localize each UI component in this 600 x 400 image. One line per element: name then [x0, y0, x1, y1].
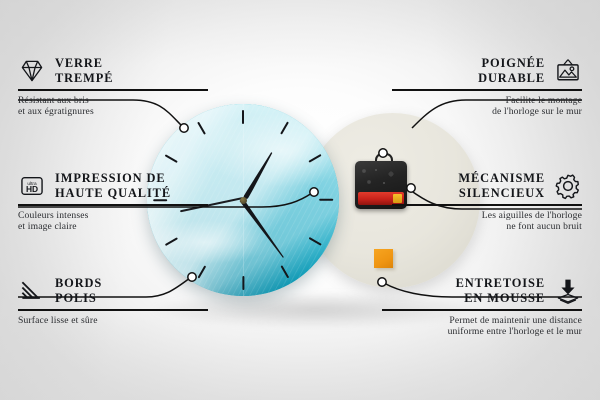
feature-rule	[392, 204, 582, 206]
feature-verre-trempe[interactable]: VERRE TREMPÉ Résistant aux bris et aux é…	[18, 56, 208, 118]
ultra-hd-icon: ultra HD	[18, 172, 46, 200]
gear-icon	[554, 172, 582, 200]
feature-bords-polis[interactable]: BORDS POLIS Surface lisse et sûre	[18, 276, 208, 326]
minute-hand	[239, 198, 285, 259]
feature-title: VERRE TREMPÉ	[55, 56, 113, 85]
product-infographic: VERRE TREMPÉ Résistant aux bris et aux é…	[0, 0, 600, 400]
foam-spacer-icon	[554, 277, 582, 305]
feature-desc-line1: Couleurs intenses	[18, 210, 208, 222]
foam-spacer	[374, 249, 393, 268]
feature-header: BORDS POLIS	[18, 276, 208, 305]
feature-desc-line1: Résistant aux bris	[18, 95, 208, 107]
feature-entretoise-en-mousse[interactable]: ENTRETOISE EN MOUSSE Permet de maintenir…	[382, 276, 582, 338]
feature-header: ultra HD IMPRESSION DE HAUTE QUALITÉ	[18, 171, 208, 200]
hour-hand	[243, 151, 274, 200]
feature-impression-haute-qualite[interactable]: ultra HD IMPRESSION DE HAUTE QUALITÉ Cou…	[18, 171, 208, 233]
feature-desc-line2: et aux égratignures	[18, 106, 208, 118]
feature-title: POIGNÉE DURABLE	[478, 56, 545, 85]
feature-mecanisme-silencieux[interactable]: MÉCANISME SILENCIEUX Les aiguilles de l'…	[392, 171, 582, 233]
feature-title: BORDS POLIS	[55, 276, 102, 305]
feature-rule	[18, 89, 208, 91]
diamond-icon	[18, 57, 46, 85]
feature-desc-line2: ne font aucun bruit	[392, 221, 582, 233]
feature-title: IMPRESSION DE HAUTE QUALITÉ	[55, 171, 171, 200]
feature-header: VERRE TREMPÉ	[18, 56, 208, 85]
feature-desc-line2: uniforme entre l'horloge et le mur	[382, 326, 582, 338]
feature-desc-line1: Facilite le montage	[392, 95, 582, 107]
feature-rule	[392, 89, 582, 91]
feature-desc-line1: Les aiguilles de l'horloge	[392, 210, 582, 222]
hands-cap	[240, 197, 247, 204]
feature-desc-line2: de l'horloge sur le mur	[392, 106, 582, 118]
feature-title: MÉCANISME SILENCIEUX	[458, 171, 545, 200]
polished-edges-icon	[18, 277, 46, 305]
ultra-hd-icon-bottom: HD	[26, 184, 38, 194]
feature-desc-line2: et image claire	[18, 221, 208, 233]
feature-rule	[382, 309, 582, 311]
feature-rule	[18, 309, 208, 311]
feature-desc-line1: Permet de maintenir une distance	[382, 315, 582, 327]
feature-poignee-durable[interactable]: POIGNÉE DURABLE Facilite le montage de l…	[392, 56, 582, 118]
feature-header: POIGNÉE DURABLE	[392, 56, 582, 85]
feature-rule	[18, 204, 208, 206]
feature-title: ENTRETOISE EN MOUSSE	[456, 276, 545, 305]
feature-header: MÉCANISME SILENCIEUX	[392, 171, 582, 200]
picture-hanger-icon	[554, 57, 582, 85]
feature-desc-line1: Surface lisse et sûre	[18, 315, 208, 327]
feature-header: ENTRETOISE EN MOUSSE	[382, 276, 582, 305]
